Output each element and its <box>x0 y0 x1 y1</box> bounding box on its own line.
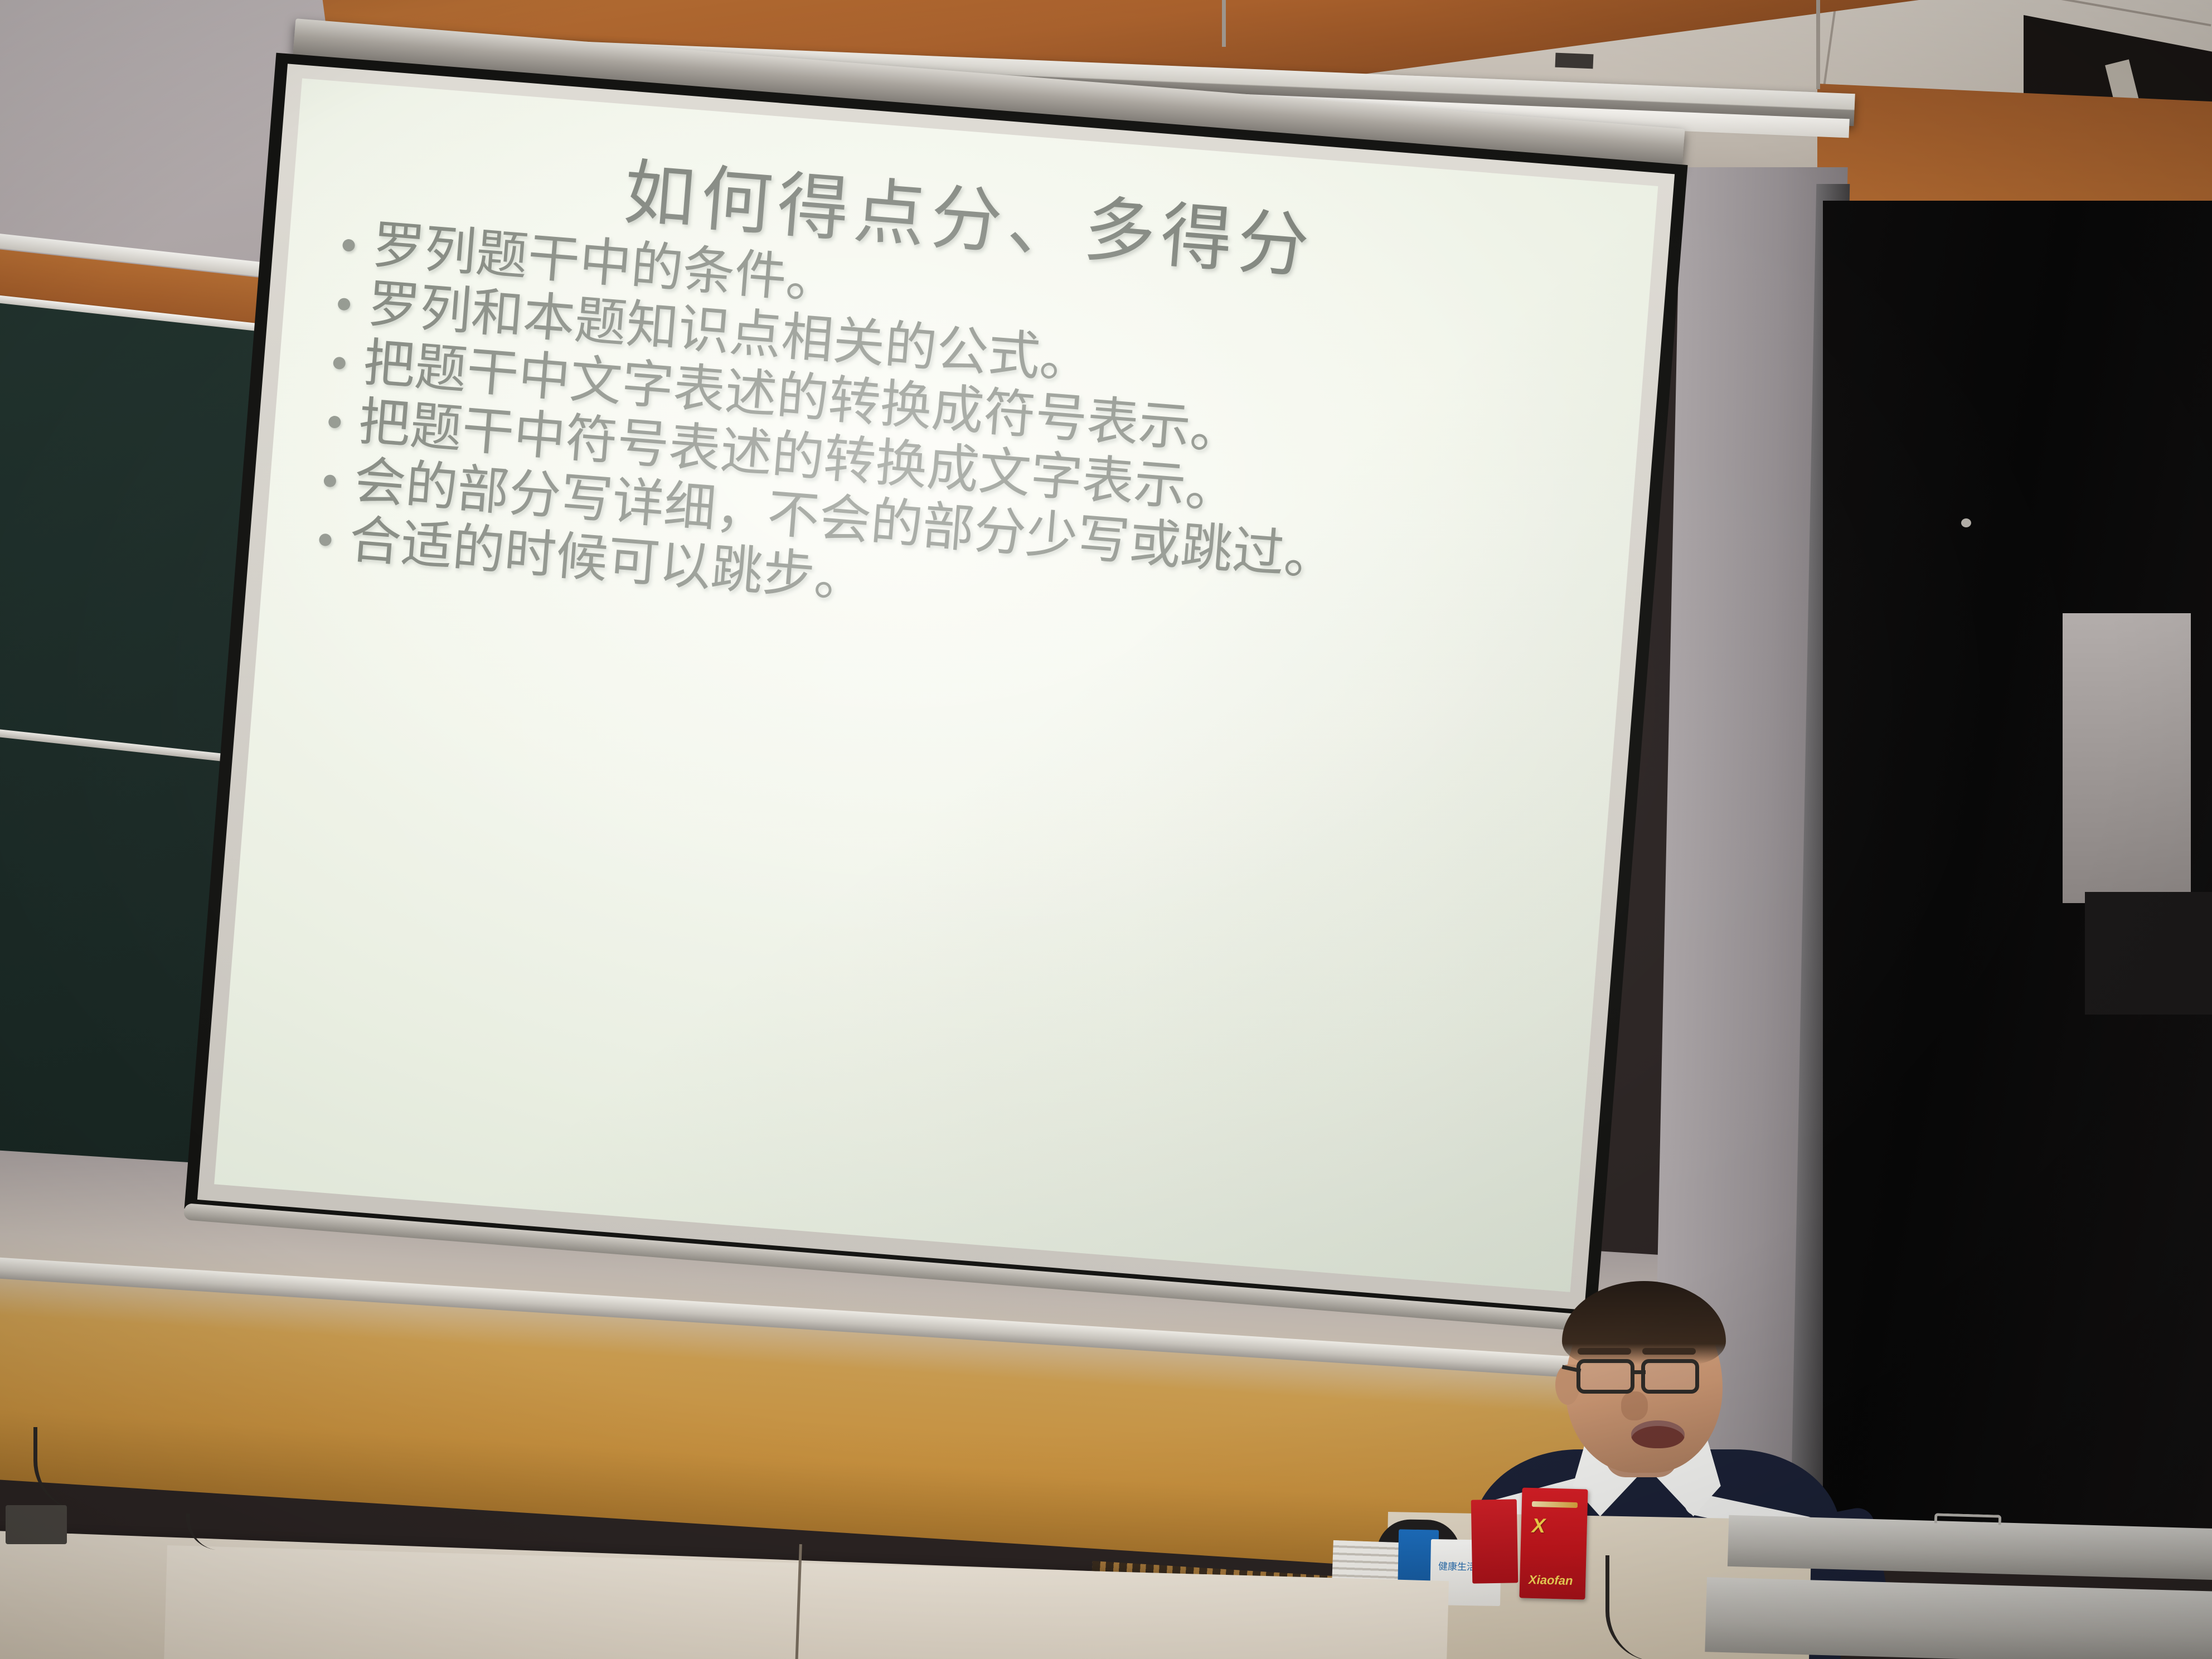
red-cigarette-box-small <box>1471 1499 1519 1583</box>
projection-screen-assembly[interactable]: 如何得点分、多得分 罗列题干中的条件。 罗列和本题知识点相关的公式。 把题干中文… <box>203 22 1724 1369</box>
power-cable <box>33 1427 95 1511</box>
presenter-brow <box>1578 1348 1631 1355</box>
presenter-nose <box>1621 1391 1648 1420</box>
red-box-brand-mark: X <box>1531 1514 1545 1538</box>
light-hanger <box>1222 0 1226 47</box>
eyeglasses-right-lens <box>1641 1359 1699 1394</box>
slide-content: 如何得点分、多得分 罗列题干中的条件。 罗列和本题知识点相关的公式。 把题干中文… <box>214 78 1658 1292</box>
red-box-stripe <box>1532 1501 1578 1508</box>
white-box-label: 健康生活 <box>1438 1558 1476 1573</box>
curtain-clip <box>1961 518 1971 527</box>
eyeglasses-bridge <box>1633 1370 1646 1374</box>
light-hanger <box>1816 0 1820 89</box>
eyeglasses-left-lens <box>1576 1359 1634 1394</box>
presenter-brow <box>1642 1348 1696 1355</box>
dark-recess <box>2085 892 2212 1015</box>
red-box-brand-footer: Xiaofan <box>1529 1573 1573 1588</box>
wall-behind-curtain <box>2063 613 2191 903</box>
projected-slide: 如何得点分、多得分 罗列题干中的条件。 罗列和本题知识点相关的公式。 把题干中文… <box>214 78 1658 1292</box>
presenter-mouth <box>1631 1420 1685 1448</box>
light-fixture-junction-box <box>1555 53 1593 69</box>
metal-equipment-case-lower[interactable] <box>1705 1577 2212 1659</box>
wall-outlet[interactable] <box>6 1505 67 1544</box>
equipment-case-handle[interactable] <box>1934 1513 2001 1525</box>
classroom-photo: 如何得点分、多得分 罗列题干中的条件。 罗列和本题知识点相关的公式。 把题干中文… <box>0 0 2212 1659</box>
